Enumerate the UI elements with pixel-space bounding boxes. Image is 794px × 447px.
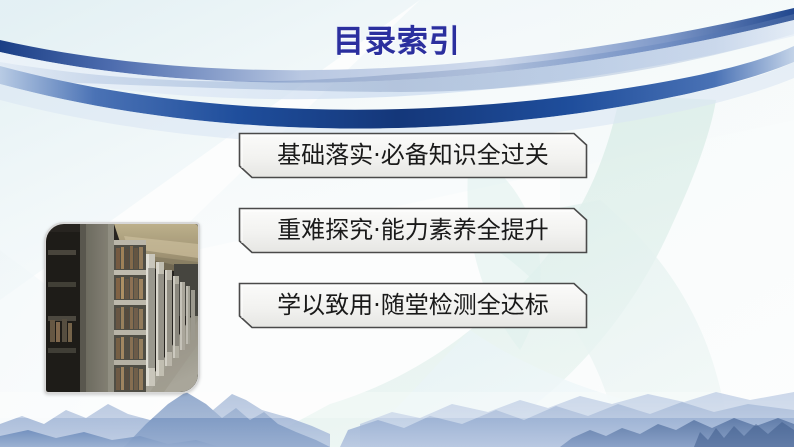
library-bookshelves-photo xyxy=(46,224,198,392)
slide-canvas: 目录索引 xyxy=(0,0,794,447)
menu-item-label: 重难探究·能力素养全提升 xyxy=(277,218,549,244)
contents-menu-list: 基础落实·必备知识全过关 重难探究·能力素养全提升 xyxy=(238,132,588,329)
page-title: 目录索引 xyxy=(0,16,794,61)
menu-item-label: 学以致用·随堂检测全达标 xyxy=(277,293,549,319)
library-photo-frame xyxy=(44,222,200,394)
menu-item-basics[interactable]: 基础落实·必备知识全过关 xyxy=(238,132,588,179)
menu-item-practice[interactable]: 学以致用·随堂检测全达标 xyxy=(238,282,588,329)
menu-item-key-points[interactable]: 重难探究·能力素养全提升 xyxy=(238,207,588,254)
menu-item-label: 基础落实·必备知识全过关 xyxy=(277,143,549,169)
page-title-text: 目录索引 xyxy=(333,16,461,61)
